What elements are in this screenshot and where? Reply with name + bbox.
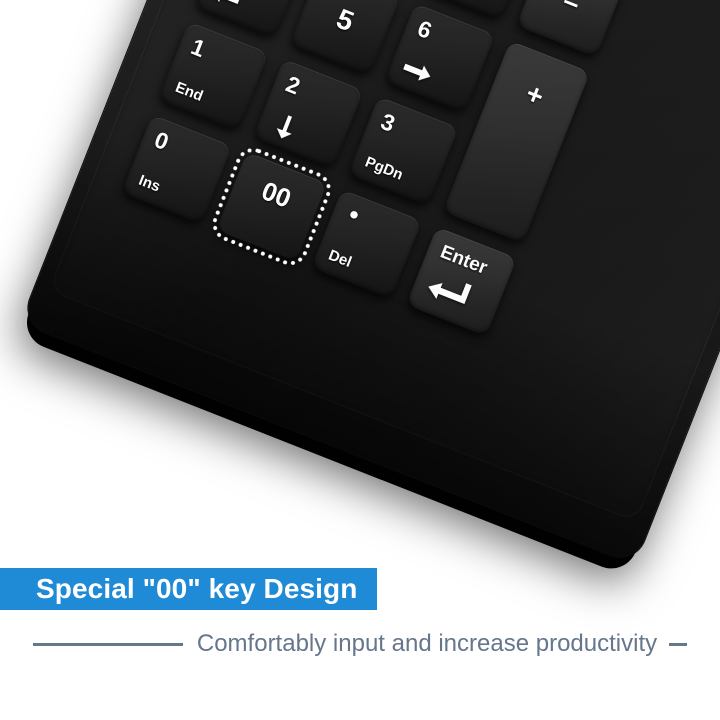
product-photo-stage: TECK NumLock / * 7 Home 8: [0, 0, 720, 720]
numeric-keypad: TECK NumLock / * 7 Home 8: [21, 0, 720, 565]
key-0-sublabel: Ins: [137, 173, 163, 195]
subtitle-row: Comfortably input and increase productiv…: [0, 628, 720, 660]
key-0-label: 0: [151, 128, 171, 154]
key-1-sublabel: End: [173, 80, 205, 104]
feature-banner-text: Special "00" key Design: [36, 573, 357, 605]
subtitle-rule-left: [33, 643, 183, 646]
key-5-label: 5: [300, 0, 390, 49]
subtitle-rule-right: [669, 643, 687, 646]
feature-banner: Special "00" key Design: [0, 568, 377, 610]
key-1-label: 1: [188, 35, 208, 61]
key-minus-label: –: [526, 0, 616, 31]
key-3-sublabel: PgDn: [363, 154, 405, 182]
key-6-label: 6: [414, 17, 434, 43]
key-enter-label: Enter: [438, 242, 490, 277]
key-2-label: 2: [283, 72, 303, 98]
subtitle-text: Comfortably input and increase productiv…: [197, 630, 657, 658]
key-plus-label: +: [490, 67, 580, 125]
arrow-left-icon: [208, 0, 245, 13]
key-period-sublabel: Del: [326, 248, 353, 271]
arrow-down-icon: [266, 110, 303, 143]
arrow-right-icon: [398, 55, 435, 88]
key-3-label: 3: [378, 110, 398, 136]
enter-arrow-icon: [424, 271, 473, 312]
key-period-label: •: [348, 208, 360, 221]
